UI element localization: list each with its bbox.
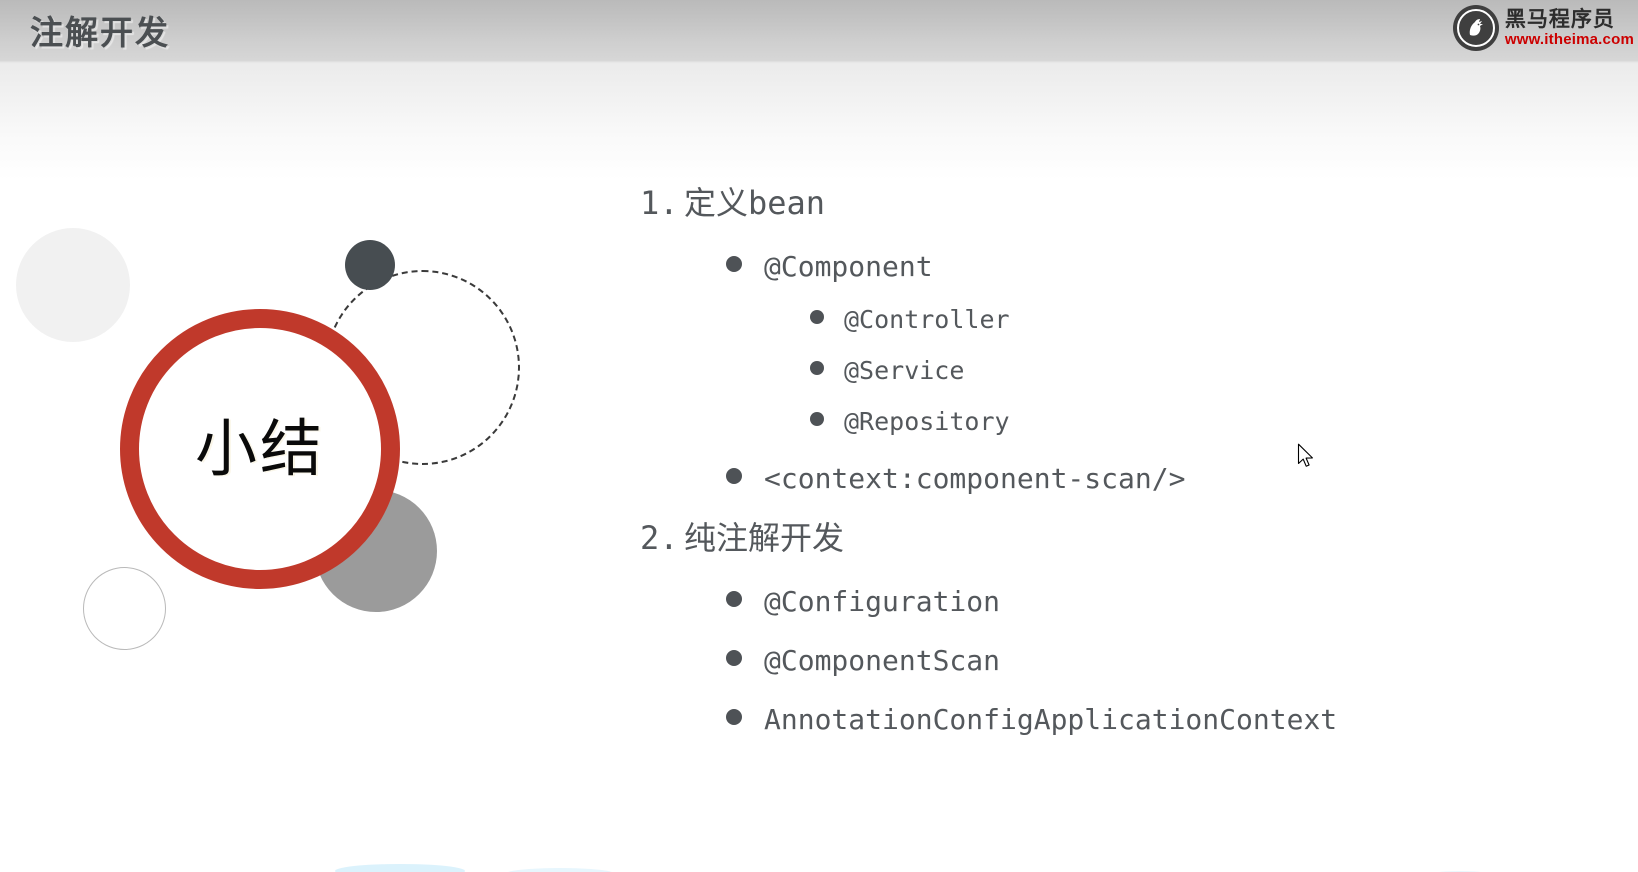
summary-badge-label: 小结 xyxy=(195,418,325,480)
outline-label: @Configuration xyxy=(764,585,1000,618)
decorative-graphic: 小结 xyxy=(0,0,600,872)
brand-name-cn: 黑马程序员 xyxy=(1505,9,1634,30)
brand-logo: 黑马程序员 www.itheima.com xyxy=(1453,2,1634,54)
summary-badge: 小结 xyxy=(120,309,400,589)
horse-head-icon xyxy=(1453,5,1499,51)
outline-item-level3: @Repository xyxy=(640,407,1600,436)
bullet-dot-icon xyxy=(810,361,824,375)
outline-item-level2: @Component xyxy=(640,250,1600,283)
pale-circle-shape xyxy=(16,228,130,342)
bullet-dot-icon xyxy=(726,591,742,607)
header-bar xyxy=(0,0,1638,60)
outline-label: AnnotationConfigApplicationContext xyxy=(764,703,1337,736)
bullet-dot-icon xyxy=(810,412,824,426)
outline-item-level3: @Controller xyxy=(640,305,1600,334)
bullet-dot-icon xyxy=(726,709,742,725)
outline-label: @Repository xyxy=(844,407,1010,436)
header-shadow xyxy=(0,60,1638,63)
outline-item-level1: 2. 纯注解开发 xyxy=(640,513,1600,559)
outline-label: @Service xyxy=(844,356,964,385)
outline-label: @ComponentScan xyxy=(764,644,1000,677)
slide-root: 注解开发 黑马程序员 www.itheima.com 小结 1. 定义bea xyxy=(0,0,1638,872)
outline-label: @Component xyxy=(764,250,933,283)
outline-circle-shape xyxy=(83,567,166,650)
dark-dot-shape xyxy=(345,240,395,290)
outline-number: 2. xyxy=(640,519,684,557)
outline-item-level2: AnnotationConfigApplicationContext xyxy=(640,703,1600,736)
page-title: 注解开发 xyxy=(30,6,170,54)
outline-label: 纯注解开发 xyxy=(684,513,844,559)
outline-item-level3: @Service xyxy=(640,356,1600,385)
bullet-dot-icon xyxy=(810,310,824,324)
outline-content: 1. 定义bean @Component @Controller @Servic… xyxy=(640,160,1600,736)
bullet-dot-icon xyxy=(726,256,742,272)
outline-label: 定义bean xyxy=(684,178,825,224)
outline-label: <context:component-scan/> xyxy=(764,462,1185,495)
bullet-dot-icon xyxy=(726,468,742,484)
outline-item-level1: 1. 定义bean xyxy=(640,178,1600,224)
brand-url: www.itheima.com xyxy=(1505,32,1634,47)
outline-number: 1. xyxy=(640,184,684,222)
outline-item-level2: @ComponentScan xyxy=(640,644,1600,677)
logo-text-block: 黑马程序员 www.itheima.com xyxy=(1505,9,1634,47)
bullet-dot-icon xyxy=(726,650,742,666)
outline-label: @Controller xyxy=(844,305,1010,334)
outline-item-level2: <context:component-scan/> xyxy=(640,462,1600,495)
outline-item-level2: @Configuration xyxy=(640,585,1600,618)
